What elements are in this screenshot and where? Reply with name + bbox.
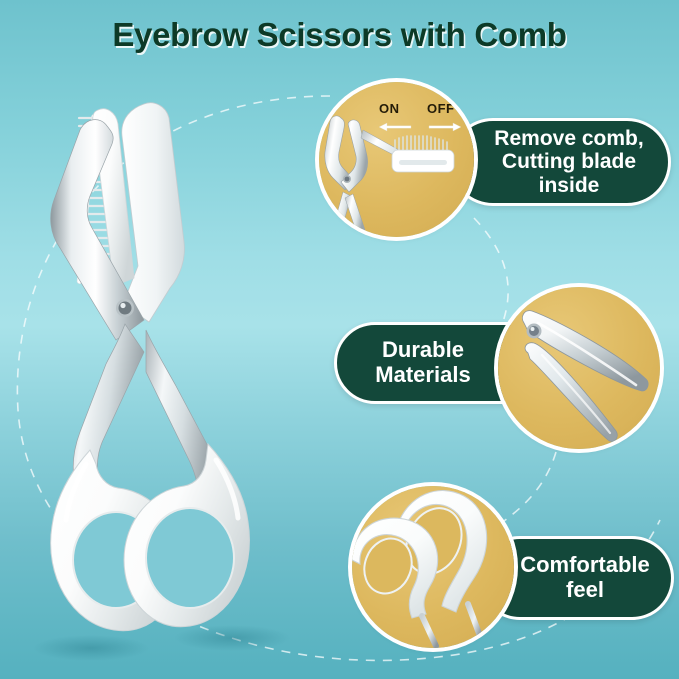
annotation-on: ON <box>379 101 400 116</box>
loop-lower <box>352 518 438 646</box>
feature-label-line1: Durable <box>375 338 470 363</box>
feature-bubble-comfortable-feel[interactable] <box>352 486 514 648</box>
annotation-off: OFF <box>427 101 455 116</box>
feature-label-line2: Cutting blade <box>494 150 643 174</box>
off-arrow-icon <box>429 123 461 131</box>
product-infographic: Eyebrow Scissors with Comb <box>0 0 679 679</box>
feature-bubble-durable-materials[interactable] <box>498 287 660 449</box>
feature-pill-remove-comb[interactable]: Remove comb, Cutting blade inside <box>449 118 671 206</box>
pivot-screw-icon <box>527 324 542 339</box>
feature-label-line2: feel <box>520 578 650 603</box>
page-title: Eyebrow Scissors with Comb <box>0 16 679 54</box>
feature-label-line1: Remove comb, <box>494 127 643 151</box>
feature-label-line1: Comfortable <box>520 553 650 578</box>
right-finger-loop <box>124 444 249 627</box>
feature-bubble-remove-comb[interactable]: ON OFF <box>319 82 474 237</box>
pivot-screw-icon <box>116 299 134 317</box>
feature-label-line2: Materials <box>375 363 470 388</box>
hero-product-image <box>0 52 324 672</box>
on-arrow-icon <box>379 123 411 131</box>
mini-scissors <box>325 116 417 234</box>
feature-label-line3: inside <box>494 174 643 198</box>
mini-comb <box>392 136 454 172</box>
